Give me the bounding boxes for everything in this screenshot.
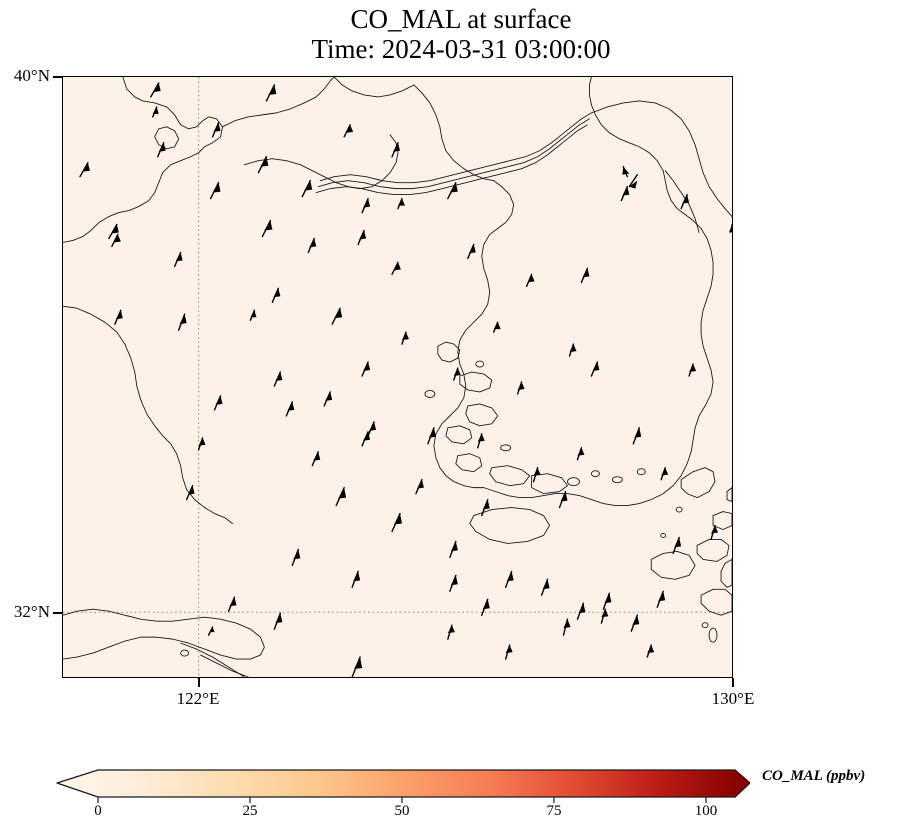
figure-title: CO_MAL at surface Time: 2024-03-31 03:00… bbox=[0, 4, 922, 64]
ytick-mark-40n bbox=[53, 76, 62, 78]
colorbar-label: CO_MAL (ppbv) bbox=[762, 768, 922, 785]
colorbar-tick-100: 100 bbox=[676, 803, 736, 820]
colorbar-drawing bbox=[50, 762, 750, 806]
colorbar-tick-25: 25 bbox=[220, 803, 280, 820]
colorbar-tick-0: 0 bbox=[68, 803, 128, 820]
colorbar-ticks bbox=[98, 797, 706, 803]
colorbar-gradient-bar[interactable] bbox=[57, 770, 750, 797]
ytick-label-32n: 32°N bbox=[0, 602, 50, 622]
ytick-mark-32n bbox=[53, 612, 62, 614]
xtick-mark-122e bbox=[198, 678, 200, 687]
title-time-line: Time: 2024-03-31 03:00:00 bbox=[0, 34, 922, 64]
colorbar-tick-50: 50 bbox=[372, 803, 432, 820]
figure-canvas: CO_MAL at surface Time: 2024-03-31 03:00… bbox=[0, 0, 922, 836]
map-axes bbox=[62, 76, 733, 678]
xtick-label-122e: 122°E bbox=[148, 689, 248, 709]
ytick-label-40n: 40°N bbox=[0, 66, 50, 86]
xtick-mark-130e bbox=[732, 678, 734, 687]
title-variable-line: CO_MAL at surface bbox=[0, 4, 922, 34]
scalar-field-layer bbox=[63, 77, 732, 677]
xtick-label-130e: 130°E bbox=[683, 689, 783, 709]
colorbar-tick-75: 75 bbox=[524, 803, 584, 820]
map-drawing bbox=[63, 77, 732, 677]
